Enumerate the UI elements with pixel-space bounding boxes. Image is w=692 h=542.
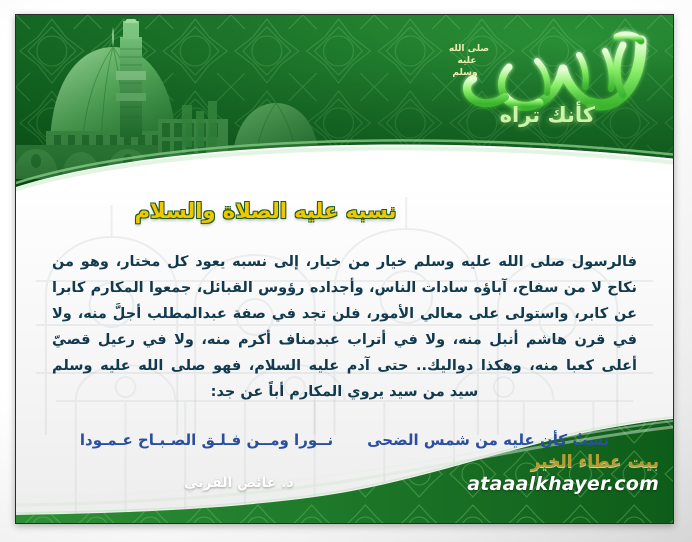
poetry-verse: نسبٌ كأن عليه من شمس الضحى نــورا ومــن …: [38, 431, 651, 449]
logo-arabic-text: بيت عطاء الخير: [467, 452, 659, 472]
logo-url-text: ataaalkhayer.com: [467, 473, 659, 495]
page-title: نسبه عليه الصلاة والسلام: [38, 199, 643, 223]
body-paragraph: فالرسول صلى الله عليه وسلم خيار من خيار،…: [52, 249, 637, 405]
verse-hemistich-right: نسبٌ كأن عليه من شمس الضحى: [367, 431, 609, 449]
card-header: صلى الله عليه وسلم كأنك تراه: [16, 15, 673, 191]
page-background: صلى الله عليه وسلم كأنك تراه: [0, 0, 692, 542]
svg-text:صلى الله: صلى الله: [449, 44, 489, 54]
islamic-quote-card: صلى الله عليه وسلم كأنك تراه: [15, 14, 674, 524]
header-tagline: كأنك تراه: [500, 103, 595, 127]
header-curve-divider: [16, 135, 673, 191]
svg-text:عليه: عليه: [458, 56, 477, 66]
card-body: نسبه عليه الصلاة والسلام فالرسول صلى الل…: [16, 191, 673, 523]
verse-hemistich-left: نــورا ومــن فـلـق الصـبـاح عـمـودا: [80, 431, 333, 449]
author-name: د. عائض القرني: [184, 475, 294, 491]
svg-text:وسلم: وسلم: [452, 68, 477, 78]
site-logo[interactable]: بيت عطاء الخير ataaalkhayer.com: [467, 452, 659, 495]
card-content: نسبه عليه الصلاة والسلام فالرسول صلى الل…: [16, 199, 673, 449]
